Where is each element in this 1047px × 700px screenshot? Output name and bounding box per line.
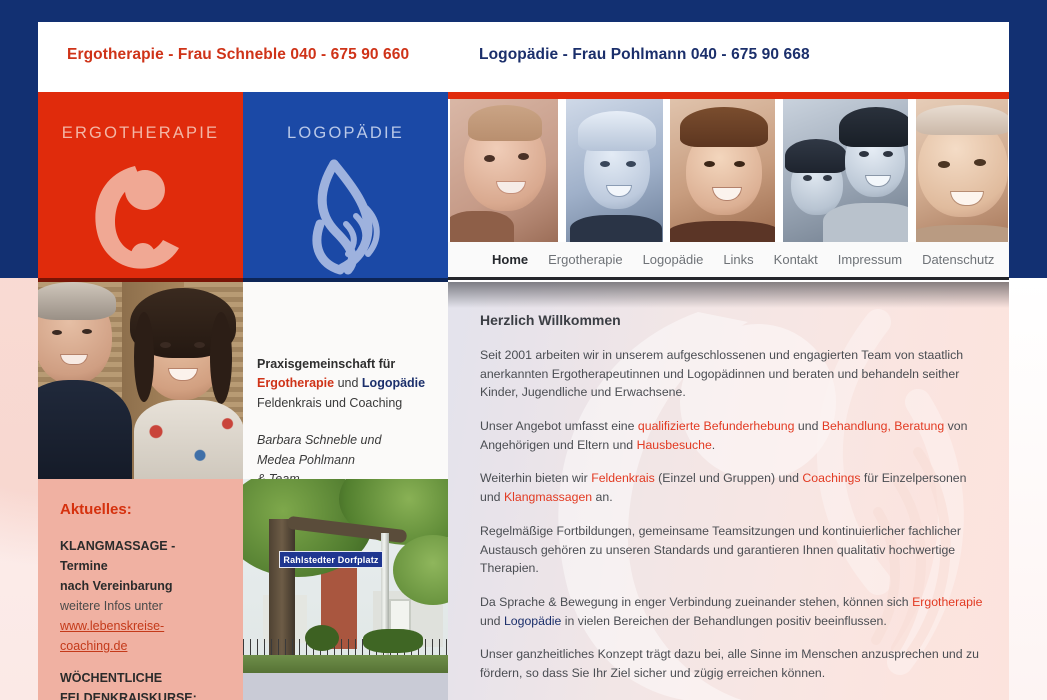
street-sign-label: Rahlstedter Dorfplatz [283,555,378,565]
banner-photo-strip [448,92,1009,242]
main-navigation: Home Ergotherapie Logopädie Links Kontak… [448,242,1009,280]
sprache-text-b: und [480,614,504,628]
weiterhin-coachings: Coachings [802,471,860,485]
nav-item-datenschutz[interactable]: Datenschutz [912,252,1004,267]
nav-list: Home Ergotherapie Logopädie Links Kontak… [482,252,1004,267]
angebot-text-d: . [712,438,715,452]
banner-photo-mother-child [783,99,909,242]
nav-item-logopaedie[interactable]: Logopädie [633,252,714,267]
page-edge-watermark-left [0,278,38,700]
paragraph-weiterhin: Weiterhin bieten wir Feldenkrais (Einzel… [480,469,987,506]
aktuelles-infos-line: weitere Infos unter [60,596,223,616]
aktuelles-kurse-line2: FELDENKRAISKURSE: [60,688,223,700]
site-container: Ergotherapie - Frau Schneble 040 - 675 9… [38,22,1009,700]
paragraph-sprache-bewegung: Da Sprache & Bewegung in enger Verbindun… [480,593,987,630]
banner-gap [558,99,566,242]
lebenskreise-coaching-link[interactable]: www.lebenskreise-coaching.de [60,616,223,656]
weiterhin-text-b: (Einzel und Gruppen) und [655,471,803,485]
weiterhin-klangmassagen: Klangmassagen [504,490,592,504]
banner-gap [775,99,783,242]
weiterhin-text-d: an. [592,490,613,504]
content-columns: Aktuelles: KLANGMASSAGE - Termine nach V… [38,282,1009,700]
page-root: Ergotherapie - Frau Schneble 040 - 675 9… [0,0,1047,700]
nav-item-kontakt[interactable]: Kontakt [764,252,828,267]
paragraph-angebot: Unser Angebot umfasst eine qualifizierte… [480,417,987,454]
sidebar-middle: Praxisgemeinschaft für Ergotherapie und … [243,282,448,700]
contact-header: Ergotherapie - Frau Schneble 040 - 675 9… [38,22,1009,92]
practice-intro-ergotherapie: Ergotherapie [257,376,334,390]
banner-gap [908,99,916,242]
angebot-hausbesuche: Hausbesuche [637,438,712,452]
sprache-ergotherapie: Ergotherapie [912,595,982,609]
banner-photo-senior-woman [566,99,663,242]
paragraph-fortbildungen: Regelmäßige Fortbildungen, gemeinsame Te… [480,522,987,578]
sprache-text-c: in vielen Bereichen der Behandlungen pos… [561,614,886,628]
brand-tile-ergotherapie[interactable]: ERGOTHERAPIE [38,92,243,282]
practice-intro-und: und [334,376,362,390]
weiterhin-feldenkrais: Feldenkrais [591,471,655,485]
page-title: Herzlich Willkommen [480,312,987,328]
banner-photo-senior-man [916,99,1008,242]
banner-red-accent-bar [448,92,1009,99]
practice-intro-line3: Feldenkrais und Coaching [257,394,438,413]
practice-intro: Praxisgemeinschaft für Ergotherapie und … [243,282,448,479]
aktuelles-klangmassage-line1: KLANGMASSAGE - Termine [60,536,223,576]
main-content-inner: Herzlich Willkommen Seit 2001 arbeiten w… [448,282,1009,700]
phone-ergotherapie: Ergotherapie - Frau Schneble 040 - 675 9… [67,46,409,64]
aktuelles-kurse-line1: WÖCHENTLICHE [60,668,223,688]
sidebar-left: Aktuelles: KLANGMASSAGE - Termine nach V… [38,282,243,700]
nav-item-links[interactable]: Links [713,252,763,267]
page-edge-watermark-right [1009,278,1047,700]
angebot-behandlung-beratung: Behandlung, Beratung [822,419,944,433]
angebot-text-b: und [794,419,821,433]
owner-name-2: Medea Pohlmann [257,451,438,470]
street-sign-photo: Rahlstedter Dorfplatz [243,479,448,700]
banner-photo-baby [450,99,558,242]
paragraph-konzept: Unser ganzheitliches Konzept trägt dazu … [480,645,987,682]
paragraph-intro: Seit 2001 arbeiten wir in unserem aufges… [480,346,987,402]
banner-gap [663,99,671,242]
practice-intro-logopaedie: Logopädie [362,376,425,390]
main-content: Herzlich Willkommen Seit 2001 arbeiten w… [448,282,1009,700]
aktuelles-title: Aktuelles: [60,501,223,518]
team-photo [38,282,243,479]
aktuelles-klangmassage-line2: nach Vereinbarung [60,576,223,596]
banner-photo-teen-boy [670,99,774,242]
nav-item-ergotherapie[interactable]: Ergotherapie [538,252,632,267]
practice-intro-line1: Praxisgemeinschaft für [257,355,438,374]
banner-gap [1008,99,1009,242]
weiterhin-text-a: Weiterhin bieten wir [480,471,591,485]
sprache-text-a: Da Sprache & Bewegung in enger Verbindun… [480,595,912,609]
ergotherapie-logo-icon [38,154,243,279]
brand-tile-logopaedie-label: LOGOPÄDIE [243,124,448,143]
angebot-befunderhebung: qualifizierte Befunderhebung [638,419,795,433]
angebot-text-a: Unser Angebot umfasst eine [480,419,638,433]
nav-item-home[interactable]: Home [482,252,538,267]
practice-intro-line2: Ergotherapie und Logopädie [257,374,438,393]
brand-banner-row: ERGOTHERAPIE LOGOPÄDIE [38,92,1009,282]
sprache-logopaedie: Logopädie [504,614,561,628]
nav-item-impressum[interactable]: Impressum [828,252,912,267]
brand-tile-logopaedie[interactable]: LOGOPÄDIE [243,92,448,282]
brand-tile-ergotherapie-label: ERGOTHERAPIE [38,124,243,143]
aktuelles-panel: Aktuelles: KLANGMASSAGE - Termine nach V… [38,479,243,700]
phone-logopaedie: Logopädie - Frau Pohlmann 040 - 675 90 6… [479,46,810,64]
logopaedie-logo-icon [243,154,448,279]
owner-name-1: Barbara Schneble und [257,431,438,450]
